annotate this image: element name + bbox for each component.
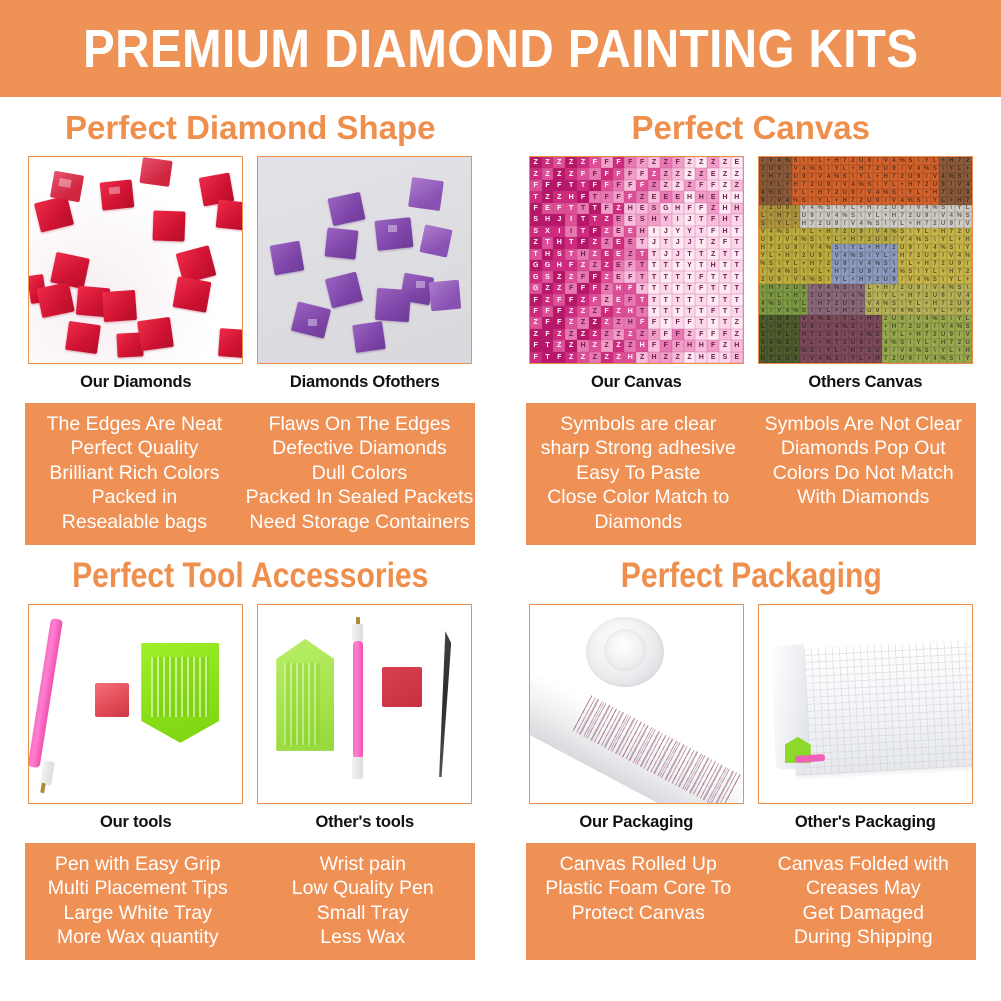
canvas-symbol-cell: Z [613,317,625,328]
canvas-symbol-cell: % [783,157,791,165]
canvas-symbol-cell: Y [808,157,816,165]
canvas-symbol-cell: T [731,226,743,237]
canvas-symbol-cell: \ [824,276,832,284]
canvas-symbol-cell: U [914,212,922,220]
canvas-symbol-cell: S [759,220,767,228]
canvas-symbol-cell: Y [857,173,865,181]
canvas-symbol-cell: 9 [775,165,783,173]
canvas-symbol-cell: T [660,260,672,271]
canvas-symbol-cell: L [947,236,955,244]
canvas-symbol-cell: \ [939,276,947,284]
canvas-symbol-cell: 7 [947,339,955,347]
canvas-symbol-cell: L [923,228,931,236]
photo-cell-our-tools: Our tools [28,604,243,832]
canvas-symbol-cell: % [841,212,849,220]
section-perfect-diamond-shape: Perfect Diamond Shape [0,97,501,545]
canvas-symbol-cell: 9 [931,252,939,260]
canvas-symbol-cell: 9 [857,339,865,347]
tube-cap-inner [604,629,646,671]
canvas-symbol-cell: 4 [914,165,922,173]
canvas-symbol-cell: Z [707,237,719,248]
section-perfect-canvas: Perfect Canvas ZZZZZFFFFFZZFZZZZEZZZZFFF… [501,97,1001,545]
canvas-symbol-cell: % [882,300,890,308]
canvas-symbol-cell: S [636,214,648,225]
canvas-symbol-cell: U [849,228,857,236]
canvas-symbol-cell: U [898,244,906,252]
canvas-symbol-cell: U [775,205,783,213]
canvas-symbol-cell: + [857,315,865,323]
canvas-symbol-cell: / [914,355,922,363]
canvas-symbol-cell: V [923,355,931,363]
canvas-symbol-cell: Z [648,168,660,179]
canvas-symbol-cell: L [816,157,824,165]
canvas-symbol-cell: 9 [947,220,955,228]
canvas-symbol-cell: Z [695,157,707,168]
canvas-symbol-cell: 7 [857,347,865,355]
canvas-symbol-cell: Z [731,329,743,340]
canvas-symbol-cell: E [613,271,625,282]
canvas-symbol-cell: S [832,355,840,363]
canvas-symbol-cell: Y [914,228,922,236]
canvas-symbol-cell: J [660,249,672,260]
canvas-symbol-cell: F [589,294,601,305]
canvas-symbol-cell: U [816,181,824,189]
canvas-symbol-cell: V [767,157,775,165]
text-line: Colors Do Not Match [753,461,974,485]
canvas-symbol-cell: Y [890,331,898,339]
canvas-symbol-cell: Z [589,352,601,363]
canvas-symbol-cell: F [553,203,565,214]
canvas-symbol-cell: + [841,236,849,244]
canvas-symbol-cell: T [530,191,542,202]
canvas-symbol-cell: 4 [808,205,816,213]
canvas-symbol-cell: Z [589,249,601,260]
canvas-symbol-cell: V [841,292,849,300]
photo-caption: Our Canvas [529,364,744,392]
canvas-symbol-cell: Y [955,315,963,323]
canvas-symbol-cell: H [636,340,648,351]
canvas-symbol-cell: 7 [964,308,972,316]
canvas-symbol-cell: S [890,300,898,308]
canvas-symbol-cell: H [816,189,824,197]
canvas-symbol-cell: 4 [849,181,857,189]
canvas-symbol-cell: U [931,181,939,189]
canvas-symbol-cell: 2 [849,157,857,165]
canvas-symbol-cell: V [906,276,914,284]
canvas-symbol-cell: V [759,339,767,347]
canvas-symbol-cell: Y [865,212,873,220]
canvas-symbol-cell: S [906,268,914,276]
canvas-symbol-cell: H [684,340,696,351]
canvas-symbol-cell: H [955,308,963,316]
canvas-symbol-cell: / [955,331,963,339]
canvas-symbol-cell: \ [841,244,849,252]
canvas-symbol-cell: \ [890,260,898,268]
canvas-symbol-cell: T [695,226,707,237]
canvas-symbol-cell: / [767,308,775,316]
canvas-symbol-cell: Z [601,329,613,340]
canvas-symbol-cell: V [882,157,890,165]
canvas-symbol-cell: Z [707,203,719,214]
canvas-symbol-cell: 9 [759,197,767,205]
canvas-symbol-cell: H [577,340,589,351]
canvas-symbol-cell: L [865,173,873,181]
others-packaging-photo-art [759,605,972,803]
canvas-symbol-cell: 2 [841,228,849,236]
canvas-symbol-cell: I [648,226,660,237]
canvas-symbol-cell: / [882,197,890,205]
canvas-symbol-cell: T [707,271,719,282]
canvas-symbol-cell: F [613,191,625,202]
section-title: Perfect Packaging [536,545,966,604]
canvas-symbol-cell: T [648,271,660,282]
image-others-canvas: /V4%S\YL+H72U9/V4%S\YL+H722U9/V4%S\YL+H7… [758,156,973,364]
canvas-symbol-cell: \ [964,173,972,181]
canvas-symbol-cell: + [898,292,906,300]
photo-pair: Our tools Other's tools [0,604,501,832]
canvas-symbol-cell: H [857,165,865,173]
canvas-symbol-cell: Y [939,236,947,244]
canvas-symbol-cell: T [589,191,601,202]
wax-square-icon [95,683,129,717]
canvas-symbol-cell: 2 [824,260,832,268]
canvas-symbol-cell: / [873,157,881,165]
canvas-symbol-cell: F [695,180,707,191]
canvas-symbol-cell: Z [707,157,719,168]
canvas-symbol-cell: + [906,331,914,339]
canvas-symbol-cell: 4 [947,323,955,331]
canvas-symbol-cell: 7 [955,157,963,165]
canvas-symbol-cell: 7 [890,284,898,292]
canvas-symbol-cell: L [873,212,881,220]
canvas-symbol-cell: + [914,260,922,268]
canvas-symbol-cell: Z [601,340,613,351]
canvas-symbol-cell: 7 [824,300,832,308]
text-line: Wrist pain [252,852,473,876]
canvas-symbol-cell: % [939,355,947,363]
canvas-symbol-cell: E [624,226,636,237]
canvas-symbol-cell: 2 [882,205,890,213]
canvas-symbol-cell: + [800,260,808,268]
canvas-symbol-cell: 9 [947,331,955,339]
canvas-symbol-cell: T [731,283,743,294]
canvas-symbol-cell: Z [672,180,684,191]
canvas-symbol-cell: \ [873,181,881,189]
canvas-symbol-cell: V [832,252,840,260]
canvas-symbol-cell: H [672,203,684,214]
canvas-symbol-cell: 9 [759,308,767,316]
canvas-symbol-cell: Y [841,315,849,323]
canvas-symbol-cell: H [731,191,743,202]
canvas-symbol-cell: / [832,292,840,300]
canvas-symbol-cell: \ [906,228,914,236]
canvas-symbol-cell: Z [553,157,565,168]
canvas-symbol-cell: Y [832,276,840,284]
canvas-symbol-cell: S [530,226,542,237]
canvas-symbol-cell: + [832,197,840,205]
canvas-symbol-cell: Z [542,157,554,168]
text-line: Need Storage Containers [246,510,474,534]
canvas-symbol-cell: F [636,317,648,328]
canvas-symbol-cell: \ [914,268,922,276]
canvas-symbol-cell: F [553,352,565,363]
canvas-symbol-cell: 9 [800,173,808,181]
canvas-symbol-cell: 2 [816,220,824,228]
canvas-symbol-cell: 7 [792,252,800,260]
photo-cell-others-tools: Other's tools [257,604,472,832]
canvas-symbol-cell: T [565,249,577,260]
canvas-symbol-cell: / [767,197,775,205]
canvas-symbol-cell: S [939,315,947,323]
canvas-symbol-cell: U [759,236,767,244]
canvas-symbol-cell: \ [947,315,955,323]
canvas-symbol-cell: 9 [800,284,808,292]
canvas-symbol-cell: T [684,283,696,294]
canvas-symbol-cell: H [624,306,636,317]
canvas-symbol-cell: L [947,347,955,355]
canvas-symbol-cell: / [759,268,767,276]
canvas-symbol-cell: H [636,226,648,237]
canvas-symbol-cell: J [672,237,684,248]
canvas-symbol-cell: % [792,308,800,316]
canvas-symbol-cell: T [672,283,684,294]
canvas-symbol-cell: 2 [882,315,890,323]
canvas-symbol-cell: 9 [898,205,906,213]
text-line: Perfect Quality [27,436,241,460]
canvas-symbol-cell: J [684,214,696,225]
canvas-symbol-cell: L [857,355,865,363]
canvas-symbol-cell: V [931,284,939,292]
canvas-symbol-cell: S [865,181,873,189]
text-column-others: Symbols Are Not Clear Diamonds Pop Out C… [751,412,976,534]
canvas-symbol-cell: / [816,323,824,331]
canvas-symbol-cell: Z [684,180,696,191]
canvas-symbol-cell: Y [767,181,775,189]
canvas-symbol-cell: S [873,331,881,339]
canvas-symbol-cell: % [964,252,972,260]
canvas-symbol-cell: % [931,205,939,213]
canvas-symbol-cell: F [530,294,542,305]
canvas-symbol-cell: + [775,252,783,260]
canvas-symbol-cell: H [865,315,873,323]
canvas-symbol-cell: % [898,268,906,276]
canvas-symbol-cell: 7 [800,292,808,300]
canvas-symbol-cell: 4 [931,244,939,252]
canvas-symbol-cell: 9 [955,260,963,268]
canvas-symbol-cell: L [775,181,783,189]
canvas-symbol-cell: H [542,214,554,225]
canvas-symbol-cell: F [624,180,636,191]
image-others-diamonds [257,156,472,364]
canvas-symbol-cell: F [601,180,613,191]
canvas-symbol-cell: 7 [767,244,775,252]
canvas-symbol-cell: Z [719,180,731,191]
canvas-symbol-cell: Z [589,237,601,248]
canvas-symbol-cell: V [865,300,873,308]
canvas-symbol-cell: H [964,347,972,355]
canvas-symbol-cell: H [914,331,922,339]
canvas-symbol-cell: 4 [882,339,890,347]
canvas-symbol-cell: H [906,181,914,189]
canvas-symbol-cell: / [800,244,808,252]
canvas-symbol-cell: E [613,214,625,225]
canvas-symbol-cell: U [906,173,914,181]
canvas-symbol-cell: % [890,339,898,347]
canvas-symbol-cell: Z [731,168,743,179]
canvas-symbol-cell: 2 [947,189,955,197]
canvas-symbol-cell: 9 [767,347,775,355]
canvas-symbol-cell: 4 [873,189,881,197]
canvas-symbol-cell: H [964,236,972,244]
canvas-symbol-cell: + [931,339,939,347]
canvas-symbol-cell: 7 [882,355,890,363]
photo-cell-our-canvas: ZZZZZFFFFFZZFZZZZEZZZZFFFFFFZZZZZEZZFFFT… [529,156,744,392]
canvas-symbol-cell: Y [792,300,800,308]
canvas-symbol-cell: U [808,252,816,260]
canvas-symbol-cell: F [672,329,684,340]
canvas-symbol-cell: \ [955,244,963,252]
canvas-symbol-cell: E [601,249,613,260]
canvas-symbol-cell: U [857,268,865,276]
canvas-symbol-cell: T [660,317,672,328]
canvas-symbol-cell: T [719,294,731,305]
canvas-symbol-cell: F [624,157,636,168]
canvas-symbol-cell: F [577,191,589,202]
canvas-symbol-cell: L [923,339,931,347]
canvas-symbol-cell: % [767,300,775,308]
canvas-symbol-cell: V [816,173,824,181]
canvas-symbol-cell: T [660,237,672,248]
canvas-symbol-cell: / [939,252,947,260]
canvas-symbol-cell: Z [601,283,613,294]
canvas-symbol-cell: E [613,294,625,305]
canvas-symbol-cell: H [882,284,890,292]
canvas-symbol-cell: Y [832,165,840,173]
canvas-symbol-cell: F [565,283,577,294]
canvas-symbol-cell: 9 [841,260,849,268]
text-line: Brilliant Rich Colors [27,461,241,485]
canvas-symbol-cell: 9 [849,300,857,308]
canvas-symbol-cell: 9 [849,189,857,197]
canvas-symbol-cell: F [577,237,589,248]
canvas-symbol-cell: \ [759,181,767,189]
canvas-symbol-cell: + [759,173,767,181]
drill-pen-icon [28,618,63,768]
canvas-symbol-cell: 4 [800,276,808,284]
photo-pair: Our Diamonds [0,156,501,392]
canvas-symbol-cell: T [565,180,577,191]
canvas-symbol-cell: 2 [931,220,939,228]
canvas-symbol-cell: H [800,220,808,228]
canvas-symbol-cell: F [542,329,554,340]
canvas-symbol-cell: Z [589,306,601,317]
canvas-symbol-cell: Z [565,271,577,282]
canvas-symbol-cell: % [923,165,931,173]
canvas-symbol-cell: 7 [964,197,972,205]
canvas-symbol-cell: \ [955,355,963,363]
canvas-symbol-cell: + [783,181,791,189]
canvas-symbol-cell: 7 [832,339,840,347]
canvas-symbol-cell: H [553,260,565,271]
canvas-symbol-cell: 7 [923,220,931,228]
canvas-symbol-cell: 7 [955,268,963,276]
canvas-symbol-cell: F [601,168,613,179]
canvas-symbol-cell: 7 [873,205,881,213]
canvas-symbol-cell: S [865,292,873,300]
canvas-symbol-cell: / [882,308,890,316]
canvas-symbol-cell: + [882,212,890,220]
canvas-symbol-cell: % [923,276,931,284]
canvas-symbol-cell: T [707,317,719,328]
canvas-symbol-cell: / [898,165,906,173]
canvas-symbol-cell: S [923,236,931,244]
text-line: Canvas Rolled Up [528,852,749,876]
canvas-symbol-cell: 2 [947,300,955,308]
canvas-symbol-cell: S [857,252,865,260]
canvas-symbol-cell: Z [719,168,731,179]
canvas-symbol-cell: T [707,283,719,294]
canvas-symbol-cell: I [565,214,577,225]
canvas-symbol-cell: Y [873,252,881,260]
canvas-symbol-cell: T [648,249,660,260]
canvas-symbol-cell: F [684,203,696,214]
canvas-symbol-cell: E [648,191,660,202]
canvas-symbol-cell: Z [553,340,565,351]
canvas-symbol-cell: 4 [923,205,931,213]
canvas-symbol-cell: T [719,317,731,328]
canvas-symbol-cell: V [808,355,816,363]
canvas-symbol-cell: 9 [792,355,800,363]
canvas-symbol-cell: 2 [759,165,767,173]
canvas-symbol-cell: F [707,329,719,340]
canvas-symbol-cell: + [824,268,832,276]
canvas-symbol-cell: 7 [947,228,955,236]
canvas-symbol-cell: 9 [939,292,947,300]
canvas-symbol-cell: Z [553,168,565,179]
canvas-symbol-cell: T [695,237,707,248]
canvas-symbol-cell: H [624,317,636,328]
text-line: Symbols are clear [528,412,749,436]
canvas-symbol-cell: S [775,189,783,197]
canvas-symbol-cell: U [783,355,791,363]
canvas-symbol-cell: H [890,323,898,331]
canvas-symbol-cell: 7 [898,323,906,331]
canvas-symbol-cell: L [955,165,963,173]
canvas-symbol-cell: Z [553,191,565,202]
canvas-symbol-cell: Z [601,237,613,248]
canvas-symbol-cell: F [624,260,636,271]
canvas-symbol-cell: \ [783,300,791,308]
section-row-1: Perfect Diamond Shape [0,97,1001,545]
canvas-symbol-cell: H [775,212,783,220]
canvas-symbol-cell: T [660,271,672,282]
canvas-symbol-cell: H [824,339,832,347]
canvas-symbol-cell: F [695,329,707,340]
canvas-symbol-cell: Z [601,271,613,282]
canvas-symbol-cell: H [565,191,577,202]
canvas-symbol-cell: U [824,331,832,339]
canvas-symbol-cell: 4 [775,157,783,165]
canvas-symbol-cell: G [660,203,672,214]
canvas-symbol-cell: S [964,212,972,220]
canvas-symbol-cell: Y [660,214,672,225]
canvas-symbol-cell: V [931,173,939,181]
canvas-symbol-cell: 9 [939,181,947,189]
canvas-symbol-cell: + [767,323,775,331]
canvas-symbol-cell: % [792,197,800,205]
our-tools-photo-art [29,605,242,803]
canvas-symbol-cell: F [589,180,601,191]
